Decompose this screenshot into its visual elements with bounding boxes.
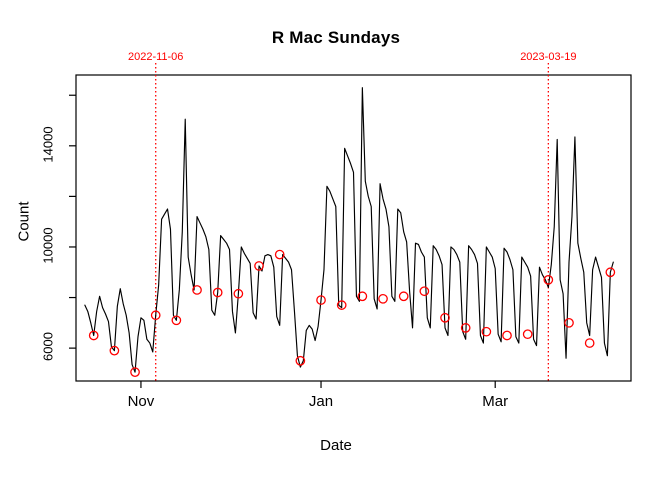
x-tick-label: Jan <box>281 393 361 410</box>
vline-label-1: 2022-11-06 <box>96 51 216 63</box>
series-line-count <box>85 88 613 373</box>
chart-canvas: R Mac Sundays Date Count 60001000014000 … <box>0 0 672 480</box>
y-tick-label: 10000 <box>41 215 56 275</box>
x-tick-label: Nov <box>101 393 181 410</box>
sunday-marker <box>585 339 593 347</box>
sunday-marker <box>379 295 387 303</box>
x-tick-label: Mar <box>455 393 535 410</box>
vline-label-2: 2023-03-19 <box>488 51 608 63</box>
sunday-marker <box>503 331 511 339</box>
sunday-markers <box>90 250 615 376</box>
sunday-marker <box>399 292 407 300</box>
y-tick-label: 6000 <box>41 317 56 377</box>
sunday-marker <box>420 287 428 295</box>
sunday-marker <box>523 330 531 338</box>
y-tick-label: 14000 <box>41 114 56 174</box>
sunday-marker <box>565 319 573 327</box>
x-axis-ticks <box>141 381 495 388</box>
y-axis-ticks <box>69 95 76 348</box>
reference-vlines <box>156 63 549 381</box>
